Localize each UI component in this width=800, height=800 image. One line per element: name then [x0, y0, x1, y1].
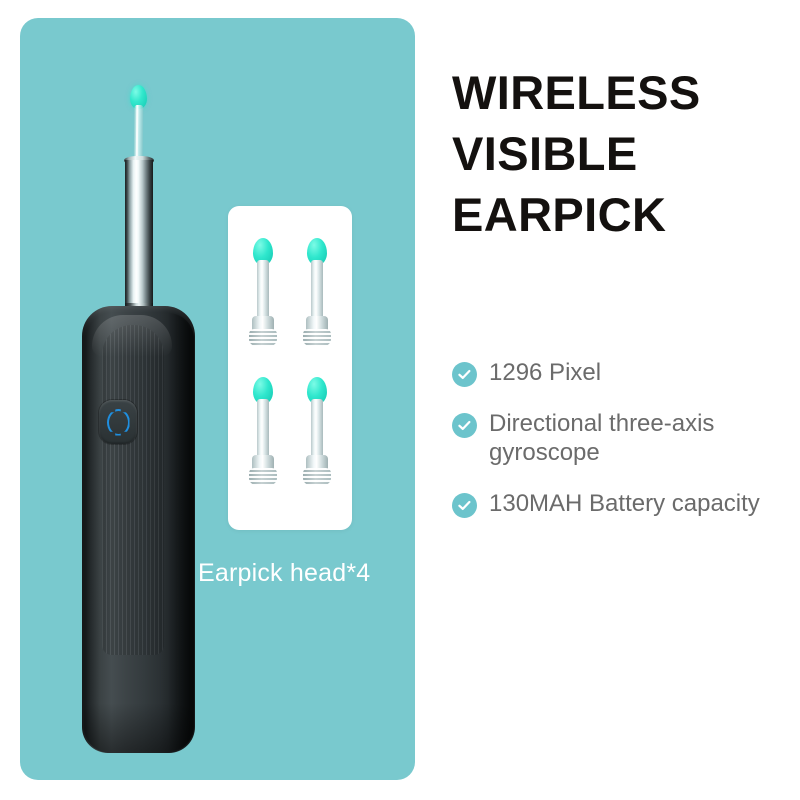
earpick-head-item	[290, 232, 344, 371]
power-icon	[107, 409, 130, 436]
metal-shaft	[125, 160, 153, 312]
headline-line-1: WIRELESS	[452, 62, 792, 123]
earpick-head-item	[290, 371, 344, 510]
product-image-panel: Earpick head*4	[20, 18, 415, 780]
power-button[interactable]	[99, 400, 137, 444]
earpick-head-stem	[311, 260, 323, 322]
check-circle-icon	[452, 362, 477, 387]
feature-item: 130MAH Battery capacity	[452, 489, 792, 518]
feature-item: Directional three-axis gyroscope	[452, 409, 792, 467]
feature-label: 130MAH Battery capacity	[489, 489, 760, 518]
earpick-head-collar	[249, 468, 277, 485]
earpick-head-stem	[311, 399, 323, 461]
earpick-head-item	[236, 232, 290, 371]
headline-line-3: EARPICK	[452, 184, 792, 245]
feature-list: 1296 Pixel Directional three-axis gyrosc…	[452, 358, 792, 540]
feature-item: 1296 Pixel	[452, 358, 792, 387]
earpick-head-collar	[303, 468, 331, 485]
earpick-head-stem	[257, 260, 269, 322]
check-circle-icon	[452, 413, 477, 438]
product-marketing-image: Earpick head*4 WIRELESS VISIBLE EARPICK …	[0, 0, 800, 800]
accessory-caption: Earpick head*4	[198, 559, 415, 588]
earpick-head-item	[236, 371, 290, 510]
feature-label: Directional three-axis gyroscope	[489, 409, 789, 467]
earpick-head-collar	[249, 329, 277, 346]
earpick-head-stem	[257, 399, 269, 461]
earpick-head-collar	[303, 329, 331, 346]
accessory-card	[228, 206, 352, 530]
content-column: WIRELESS VISIBLE EARPICK 1296 Pixel	[452, 0, 792, 800]
feature-label: 1296 Pixel	[489, 358, 601, 387]
page-title: WIRELESS VISIBLE EARPICK	[452, 62, 792, 245]
earpick-device	[68, 63, 198, 753]
headline-line-2: VISIBLE	[452, 123, 792, 184]
check-circle-icon	[452, 493, 477, 518]
device-handle	[82, 306, 195, 753]
earpick-heads-grid	[228, 206, 352, 530]
